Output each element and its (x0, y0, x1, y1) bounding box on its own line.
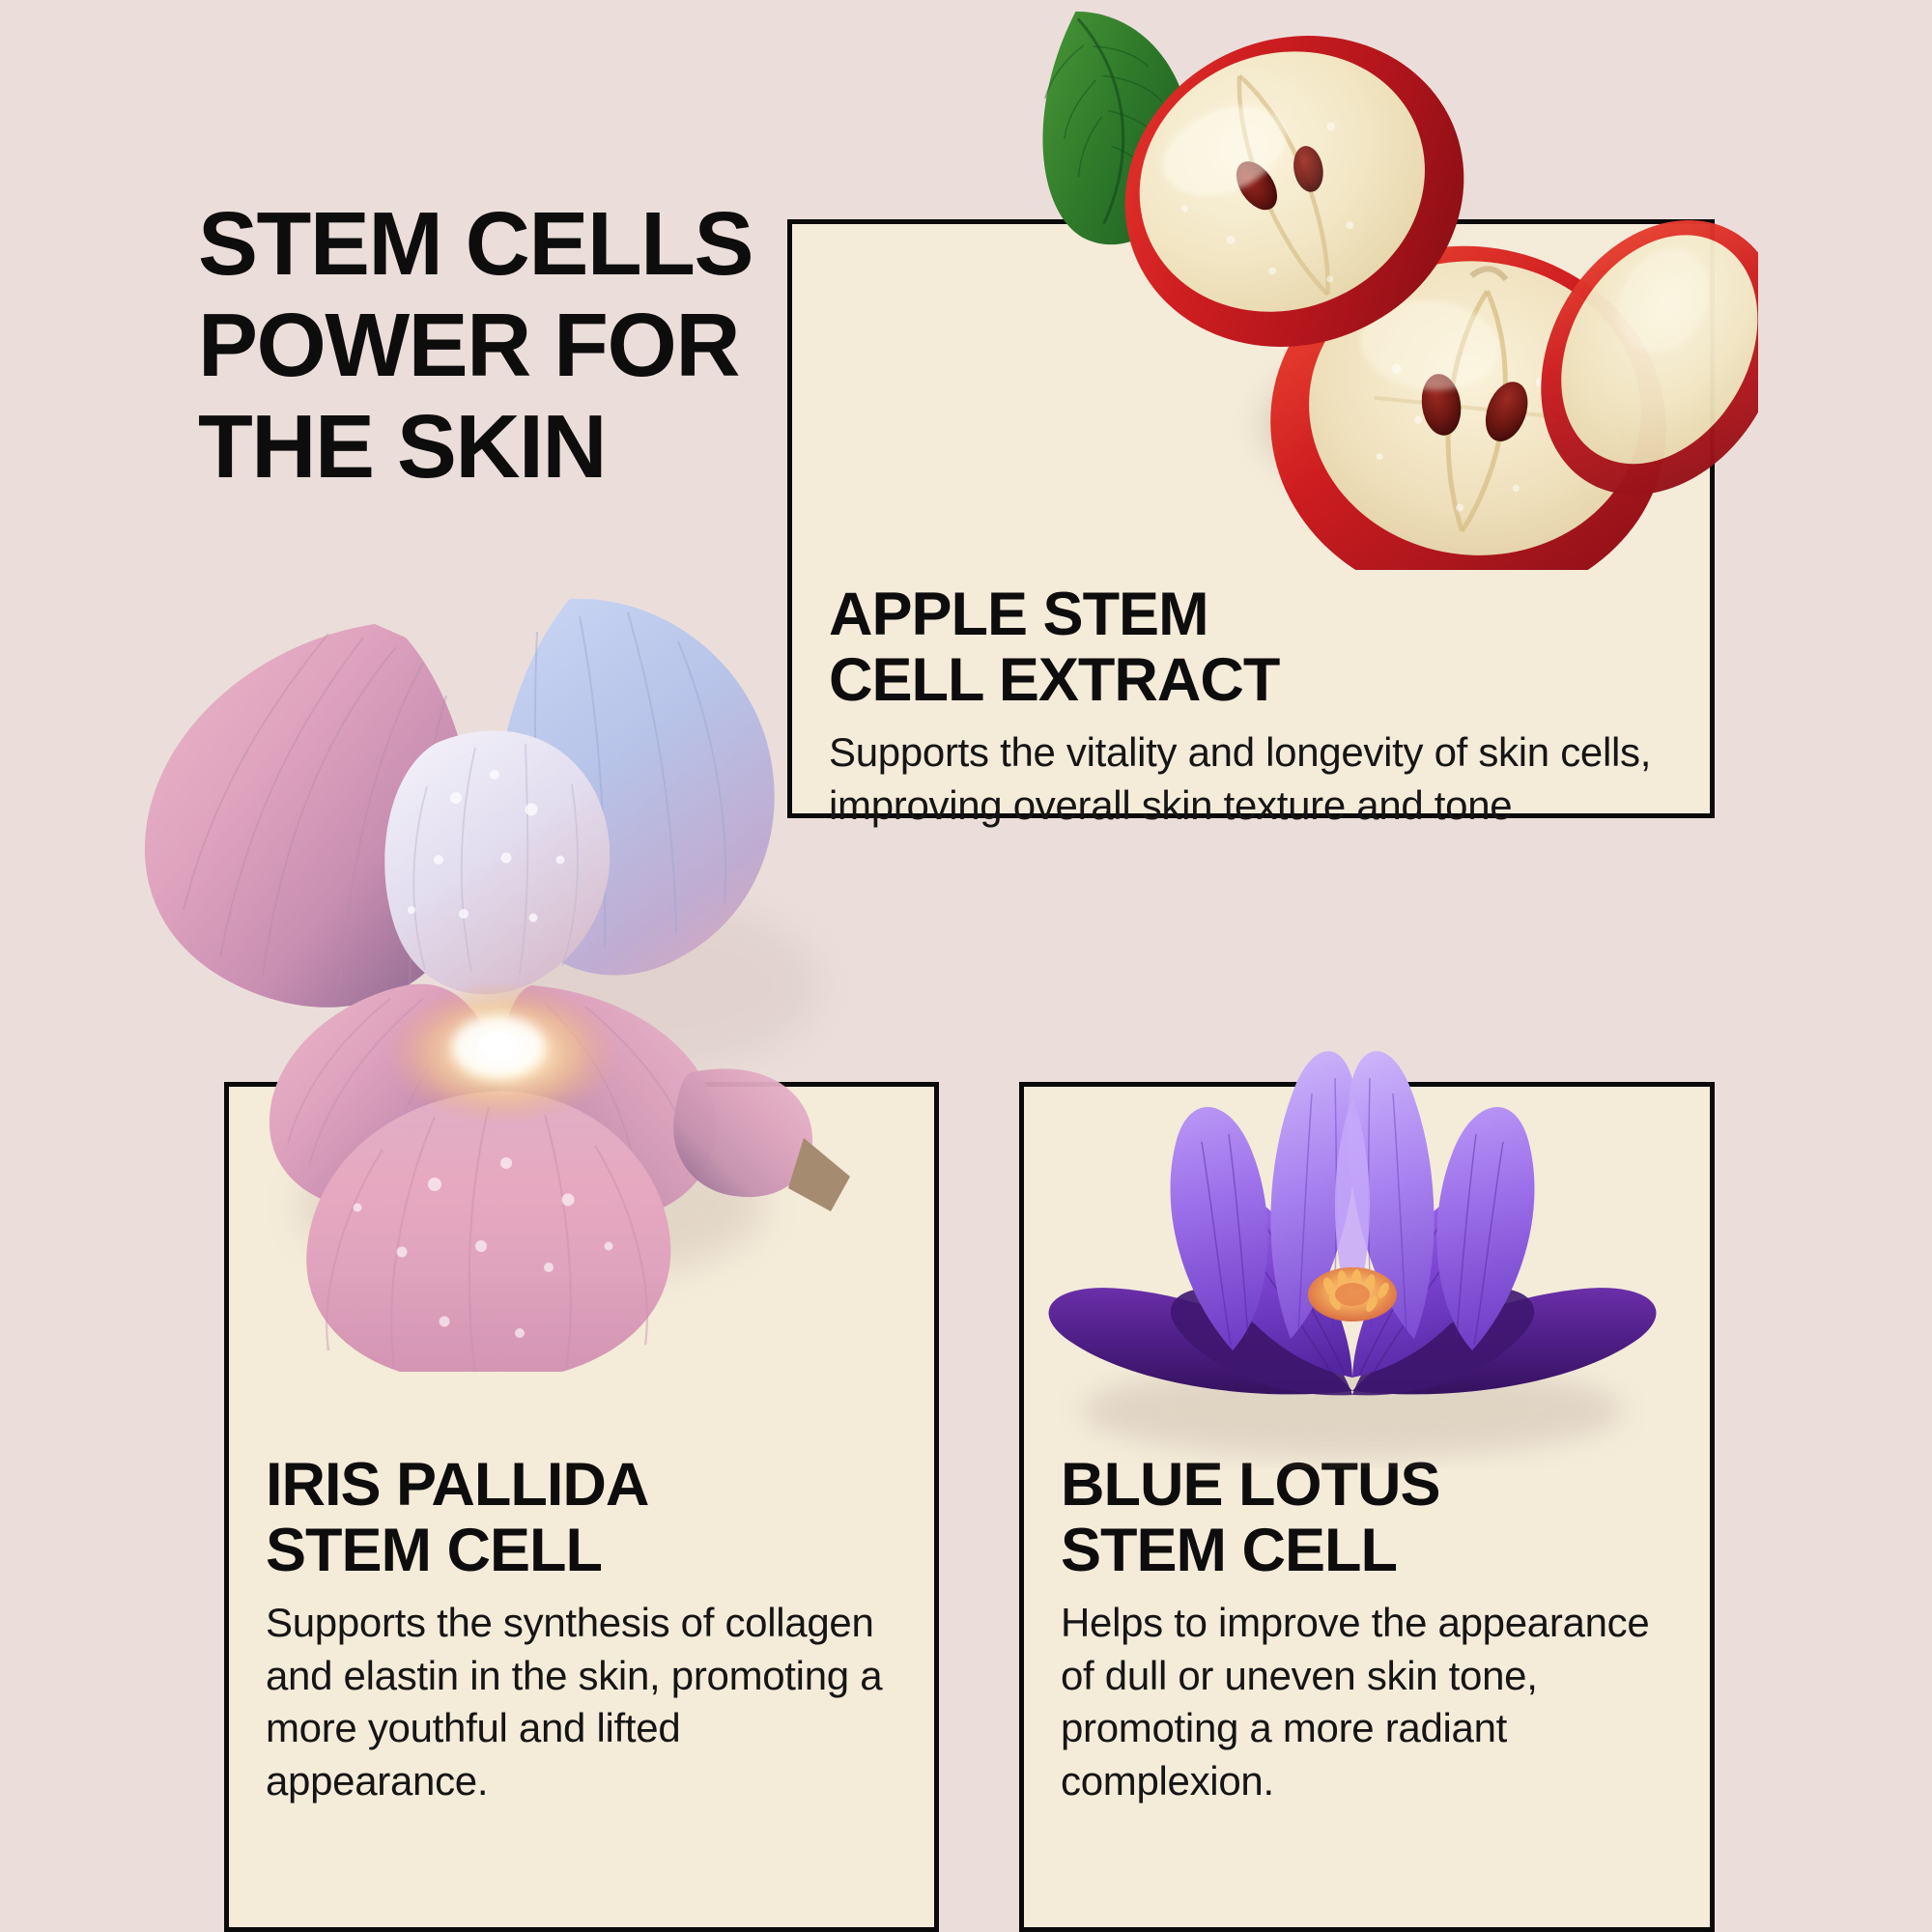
card-apple-stem-cell: APPLE STEM CELL EXTRACT Supports the vit… (787, 219, 1715, 818)
card-iris-text-block: IRIS PALLIDA STEM CELL Supports the synt… (229, 1452, 934, 1807)
card-apple-description: Supports the vitality and longevity of s… (829, 726, 1673, 832)
card-apple-text-block: APPLE STEM CELL EXTRACT Supports the vit… (792, 582, 1710, 832)
card-iris-description: Supports the synthesis of collagen and e… (266, 1597, 897, 1807)
card-blue-lotus-stem-cell: BLUE LOTUS STEM CELL Helps to improve th… (1019, 1082, 1715, 1932)
card-lotus-text-block: BLUE LOTUS STEM CELL Helps to improve th… (1024, 1452, 1710, 1807)
card-lotus-title: BLUE LOTUS STEM CELL (1061, 1452, 1673, 1583)
card-iris-title: IRIS PALLIDA STEM CELL (266, 1452, 897, 1583)
infographic-canvas: STEM CELLS POWER FOR THE SKIN APPLE STEM… (0, 0, 1932, 1932)
card-lotus-description: Helps to improve the appearance of dull … (1061, 1597, 1673, 1807)
card-apple-title: APPLE STEM CELL EXTRACT (829, 582, 1673, 713)
card-iris-pallida-stem-cell: IRIS PALLIDA STEM CELL Supports the synt… (224, 1082, 939, 1932)
